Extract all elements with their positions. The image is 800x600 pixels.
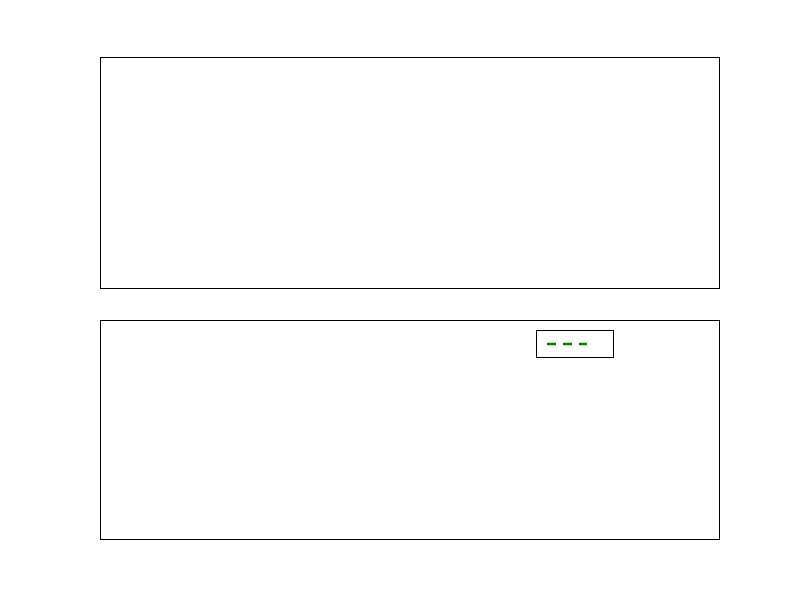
cumulative-plot	[101, 321, 719, 539]
histogram-plot	[101, 58, 719, 288]
legend	[536, 330, 614, 358]
top-panel-axes	[100, 57, 720, 289]
legend-dashed-line-icon	[545, 337, 589, 351]
top-panel-ytick-labels	[0, 57, 92, 289]
bottom-panel-ytick-labels	[0, 320, 92, 540]
bottom-panel-xtick-labels	[0, 543, 800, 565]
bottom-panel-axes	[100, 320, 720, 540]
top-panel-xtick-labels	[0, 292, 800, 314]
figure-canvas	[0, 0, 800, 600]
